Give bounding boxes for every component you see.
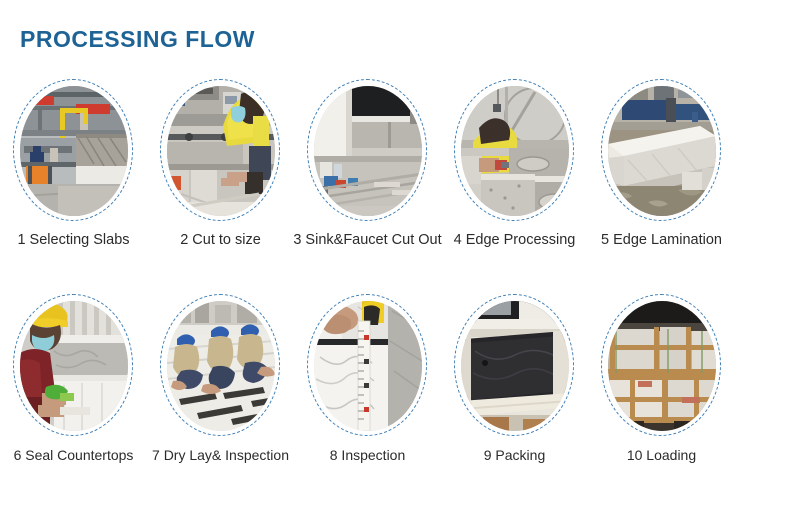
- step-label-3: 3 Sink&Faucet Cut Out: [293, 231, 443, 249]
- circle-wrap-10: [600, 293, 724, 439]
- page-title: PROCESSING FLOW: [20, 26, 255, 53]
- flow-step-7[interactable]: 7 Dry Lay& Inspection: [147, 293, 294, 508]
- flow-step-3[interactable]: 3 Sink&Faucet Cut Out: [294, 78, 441, 293]
- processing-flow-grid: 1 Selecting Slabs: [0, 78, 790, 508]
- flow-step-1[interactable]: 1 Selecting Slabs: [0, 78, 147, 293]
- circle-wrap-3: [306, 78, 430, 224]
- flow-step-10[interactable]: 10 Loading: [588, 293, 735, 508]
- circle-wrap-1: [12, 78, 136, 224]
- photo-cut-to-size: [167, 86, 275, 216]
- flow-step-4[interactable]: 4 Edge Processing: [441, 78, 588, 293]
- step-label-5: 5 Edge Lamination: [587, 231, 737, 249]
- circle-wrap-2: [159, 78, 283, 224]
- step-label-8: 8 Inspection: [293, 446, 443, 464]
- flow-step-8[interactable]: 8 Inspection: [294, 293, 441, 508]
- flow-step-6[interactable]: 6 Seal Countertops: [0, 293, 147, 508]
- circle-wrap-9: [453, 293, 577, 439]
- photo-seal-countertops: [20, 301, 128, 431]
- photo-selecting-slabs: [20, 86, 128, 216]
- flow-row-2: 6 Seal Countertops: [0, 293, 790, 508]
- flow-row-1: 1 Selecting Slabs: [0, 78, 790, 293]
- flow-step-5[interactable]: 5 Edge Lamination: [588, 78, 735, 293]
- step-label-1: 1 Selecting Slabs: [0, 231, 149, 249]
- photo-sink-faucet-cut-out: [314, 86, 422, 216]
- flow-step-9[interactable]: 9 Packing: [441, 293, 588, 508]
- step-label-2: 2 Cut to size: [146, 231, 296, 249]
- step-label-4: 4 Edge Processing: [440, 231, 590, 249]
- photo-edge-processing: [461, 86, 569, 216]
- photo-dry-lay-inspection: [167, 301, 275, 431]
- step-label-6: 6 Seal Countertops: [0, 446, 149, 464]
- circle-wrap-8: [306, 293, 430, 439]
- circle-wrap-7: [159, 293, 283, 439]
- circle-wrap-5: [600, 78, 724, 224]
- step-label-10: 10 Loading: [587, 446, 737, 464]
- circle-wrap-4: [453, 78, 577, 224]
- flow-step-2[interactable]: 2 Cut to size: [147, 78, 294, 293]
- photo-packing: [461, 301, 569, 431]
- photo-edge-lamination: [608, 86, 716, 216]
- step-label-7: 7 Dry Lay& Inspection: [146, 446, 296, 464]
- photo-inspection: [314, 301, 422, 431]
- step-label-9: 9 Packing: [440, 446, 590, 464]
- circle-wrap-6: [12, 293, 136, 439]
- photo-loading: [608, 301, 716, 431]
